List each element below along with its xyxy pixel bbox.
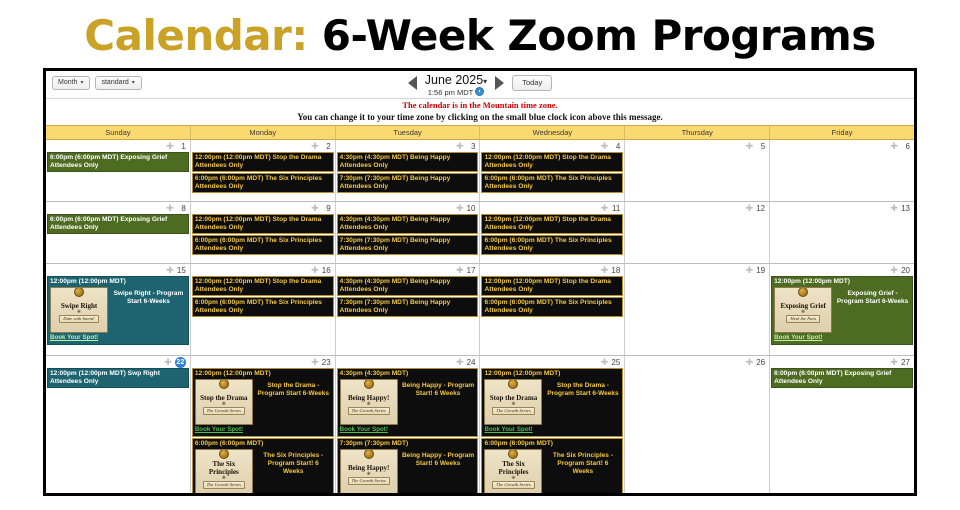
book-your-spot-link[interactable]: Book Your Spot! — [340, 426, 476, 434]
event-time: 12:00pm (12:00pm MDT) — [774, 278, 910, 286]
sprig-icon: ❀ — [367, 402, 371, 406]
event-list: 6:00pm (6:00pm MDT) Exposing Grief Atten… — [46, 152, 190, 174]
add-event-plus-icon[interactable]: ✚ — [601, 143, 609, 151]
calendar-event[interactable]: 12:00pm (12:00pm MDT) Stop the Drama Att… — [192, 214, 334, 234]
add-event-plus-icon[interactable]: ✚ — [311, 143, 319, 151]
day-of-week-tuesday: Tuesday — [336, 126, 481, 139]
event-title: Being Happy - Program Start! 6 Weeks — [401, 379, 476, 398]
add-event-plus-icon[interactable]: ✚ — [890, 205, 898, 213]
event-body: Being Happy!❀The Growth SeriesBeing Happ… — [340, 379, 476, 425]
day-header: ✚27 — [770, 356, 914, 368]
day-of-week-monday: Monday — [191, 126, 336, 139]
wax-seal-icon — [508, 449, 518, 459]
calendar-toolbar: Month▾ standard▾ June 2025▾ 1:56 pm MDT — [46, 71, 914, 99]
day-number[interactable]: 24 — [466, 358, 475, 367]
day-number[interactable]: 19 — [756, 266, 765, 275]
calendar-event-featured[interactable]: 4:30pm (4:30pm MDT)Being Happy!❀The Grow… — [337, 368, 479, 437]
calendar-event[interactable]: 6:00pm (6:00pm MDT) The Six Principles A… — [481, 235, 623, 255]
day-number[interactable]: 4 — [611, 142, 620, 151]
day-number[interactable]: 27 — [901, 358, 910, 367]
sprig-icon: ❀ — [511, 476, 515, 480]
day-header: ✚1 — [46, 140, 190, 152]
day-number[interactable]: 10 — [466, 204, 475, 213]
day-header: ✚9 — [191, 202, 335, 214]
day-number[interactable]: 8 — [177, 204, 186, 213]
calendar-event[interactable]: 6:00pm (6:00pm MDT) Exposing Grief Atten… — [47, 214, 189, 234]
event-list: 6:00pm (6:00pm MDT) Exposing Grief Atten… — [770, 368, 914, 390]
event-title: Stop the Drama - Program Start 6-Weeks — [256, 379, 331, 398]
program-tagline: Heal the Pain — [786, 315, 820, 323]
event-title: The Six Principles - Program Start! 6 We… — [256, 449, 331, 476]
current-time-label: 1:56 pm MDT — [428, 88, 473, 97]
calendar-event-featured[interactable]: 12:00pm (12:00pm MDT)Swipe Right❀Date wi… — [47, 276, 189, 345]
add-event-plus-icon[interactable]: ✚ — [456, 267, 464, 275]
program-scroll-image: Stop the Drama❀The Growth Series — [484, 379, 542, 425]
add-event-plus-icon[interactable]: ✚ — [311, 205, 319, 213]
event-list: 12:00pm (12:00pm MDT) Stop the Drama Att… — [191, 276, 335, 319]
calendar-week-row: ✚1512:00pm (12:00pm MDT)Swipe Right❀Date… — [46, 264, 914, 356]
sprig-icon: ❀ — [222, 476, 226, 480]
event-body: Stop the Drama❀The Growth SeriesStop the… — [195, 379, 331, 425]
calendar-event[interactable]: 6:00pm (6:00pm MDT) Exposing Grief Atten… — [771, 368, 913, 388]
event-list — [770, 152, 914, 153]
event-list: 12:00pm (12:00pm MDT) Stop the Drama Att… — [191, 152, 335, 195]
event-title: Swipe Right - Program Start 6-Weeks — [111, 287, 186, 306]
program-tagline: The Growth Series — [492, 407, 534, 415]
day-cell-2[interactable]: ✚212:00pm (12:00pm MDT) Stop the Drama A… — [191, 140, 336, 201]
add-event-plus-icon[interactable]: ✚ — [166, 205, 174, 213]
day-cell-10[interactable]: ✚104:30pm (4:30pm MDT) Being Happy Atten… — [336, 202, 481, 263]
day-number[interactable]: 17 — [466, 266, 475, 275]
event-list — [770, 214, 914, 215]
program-tagline: The Growth Series — [203, 407, 245, 415]
day-of-week-header: SundayMondayTuesdayWednesdayThursdayFrid… — [46, 125, 914, 140]
program-tagline: The Growth Series — [492, 481, 534, 489]
book-your-spot-link[interactable]: Book Your Spot! — [50, 334, 186, 342]
day-header: ✚3 — [336, 140, 480, 152]
add-event-plus-icon[interactable]: ✚ — [456, 205, 464, 213]
program-tagline: Date with Intent! — [59, 315, 98, 323]
wax-seal-icon — [508, 379, 518, 389]
day-of-week-friday: Friday — [770, 126, 914, 139]
day-header: ✚8 — [46, 202, 190, 214]
day-cell-23[interactable]: ✚2312:00pm (12:00pm MDT)Stop the Drama❀T… — [191, 356, 336, 493]
day-cell-4[interactable]: ✚412:00pm (12:00pm MDT) Stop the Drama A… — [480, 140, 625, 201]
program-scroll-image: Being Happy!❀The Growth Series — [340, 449, 398, 493]
event-time: 6:00pm (6:00pm MDT) — [484, 440, 620, 448]
program-tagline: The Growth Series — [348, 477, 390, 485]
calendar-event-featured[interactable]: 6:00pm (6:00pm MDT)The Six Principles❀Th… — [192, 438, 334, 493]
day-header: ✚4 — [480, 140, 624, 152]
event-title: Stop the Drama - Program Start 6-Weeks — [545, 379, 620, 398]
day-cell-25[interactable]: ✚2512:00pm (12:00pm MDT)Stop the Drama❀T… — [480, 356, 625, 493]
calendar-event-featured[interactable]: 12:00pm (12:00pm MDT)Stop the Drama❀The … — [481, 368, 623, 437]
day-header: ✚15 — [46, 264, 190, 276]
event-time: 12:00pm (12:00pm MDT) — [50, 278, 186, 286]
event-list: 12:00pm (12:00pm MDT)Stop the Drama❀The … — [480, 368, 624, 493]
day-cell-27[interactable]: ✚276:00pm (6:00pm MDT) Exposing Grief At… — [770, 356, 914, 493]
day-of-week-thursday: Thursday — [625, 126, 770, 139]
add-event-plus-icon[interactable]: ✚ — [601, 205, 609, 213]
chevron-down-icon: ▾ — [483, 77, 487, 86]
day-header: ✚5 — [625, 140, 769, 152]
calendar-event[interactable]: 12:00pm (12:00pm MDT) Stop the Drama Att… — [192, 276, 334, 296]
day-cell-24[interactable]: ✚244:30pm (4:30pm MDT)Being Happy!❀The G… — [336, 356, 481, 493]
event-time: 7:30pm (7:30pm MDT) — [340, 440, 476, 448]
add-event-plus-icon[interactable]: ✚ — [166, 143, 174, 151]
day-number[interactable]: 6 — [901, 142, 910, 151]
add-event-plus-icon[interactable]: ✚ — [164, 359, 172, 367]
day-header: ✚20 — [770, 264, 914, 276]
sprig-icon: ❀ — [801, 310, 805, 314]
day-number[interactable]: 3 — [466, 142, 475, 151]
calendar-event-featured[interactable]: 12:00pm (12:00pm MDT)Exposing Grief❀Heal… — [771, 276, 913, 345]
day-cell-9[interactable]: ✚912:00pm (12:00pm MDT) Stop the Drama A… — [191, 202, 336, 263]
sprig-icon: ❀ — [222, 402, 226, 406]
day-cell-11[interactable]: ✚1112:00pm (12:00pm MDT) Stop the Drama … — [480, 202, 625, 263]
add-event-plus-icon[interactable]: ✚ — [746, 267, 754, 275]
day-cell-5[interactable]: ✚5 — [625, 140, 770, 201]
event-list: 4:30pm (4:30pm MDT) Being Happy Attendee… — [336, 152, 480, 195]
event-list: 12:00pm (12:00pm MDT)Stop the Drama❀The … — [191, 368, 335, 493]
add-event-plus-icon[interactable]: ✚ — [890, 143, 898, 151]
event-body: The Six Principles❀The Growth SeriesThe … — [484, 449, 620, 493]
day-header: ✚24 — [336, 356, 480, 368]
day-cell-19[interactable]: ✚19 — [625, 264, 770, 355]
calendar-week-row: ✚2212:00pm (12:00pm MDT) Swp Right Atten… — [46, 356, 914, 493]
day-cell-16[interactable]: ✚1612:00pm (12:00pm MDT) Stop the Drama … — [191, 264, 336, 355]
event-list: 12:00pm (12:00pm MDT) Swp Right Attendee… — [46, 368, 190, 390]
event-body: Exposing Grief❀Heal the PainExposing Gri… — [774, 287, 910, 333]
add-event-plus-icon[interactable]: ✚ — [311, 267, 319, 275]
program-scroll-image: Exposing Grief❀Heal the Pain — [774, 287, 832, 333]
day-number[interactable]: 5 — [756, 142, 765, 151]
day-number[interactable]: 9 — [322, 204, 331, 213]
day-header: ✚11 — [480, 202, 624, 214]
calendar-event[interactable]: 7:30pm (7:30pm MDT) Being Happy Attendee… — [337, 297, 479, 317]
day-header: ✚19 — [625, 264, 769, 276]
day-header: ✚17 — [336, 264, 480, 276]
day-number[interactable]: 13 — [901, 204, 910, 213]
event-list: 4:30pm (4:30pm MDT)Being Happy!❀The Grow… — [336, 368, 480, 493]
add-event-plus-icon[interactable]: ✚ — [601, 267, 609, 275]
program-scroll-image: The Six Principles❀The Growth Series — [195, 449, 253, 493]
event-title: Exposing Grief - Program Start 6-Weeks — [835, 287, 910, 306]
day-cell-3[interactable]: ✚34:30pm (4:30pm MDT) Being Happy Attend… — [336, 140, 481, 201]
add-event-plus-icon[interactable]: ✚ — [601, 359, 609, 367]
calendar-event[interactable]: 6:00pm (6:00pm MDT) Exposing Grief Atten… — [47, 152, 189, 172]
day-number[interactable]: 11 — [611, 204, 620, 213]
add-event-plus-icon[interactable]: ✚ — [746, 205, 754, 213]
event-list: 4:30pm (4:30pm MDT) Being Happy Attendee… — [336, 214, 480, 257]
book-your-spot-link[interactable]: Book Your Spot! — [195, 426, 331, 434]
day-number[interactable]: 20 — [901, 266, 910, 275]
program-name: The Six Principles — [196, 460, 252, 476]
day-cell-26[interactable]: ✚26 — [625, 356, 770, 493]
add-event-plus-icon[interactable]: ✚ — [746, 143, 754, 151]
page-title: Calendar: 6-Week Zoom Programs — [0, 0, 960, 70]
add-event-plus-icon[interactable]: ✚ — [456, 359, 464, 367]
program-name: The Six Principles — [485, 460, 541, 476]
event-body: Being Happy!❀The Growth SeriesBeing Happ… — [340, 449, 476, 493]
sprig-icon: ❀ — [511, 402, 515, 406]
wax-seal-icon — [798, 287, 808, 297]
day-number[interactable]: 16 — [322, 266, 331, 275]
day-cell-20[interactable]: ✚2012:00pm (12:00pm MDT)Exposing Grief❀H… — [770, 264, 914, 355]
next-month-arrow-icon[interactable] — [495, 76, 504, 90]
event-list: 6:00pm (6:00pm MDT) Exposing Grief Atten… — [46, 214, 190, 236]
event-list — [625, 276, 769, 277]
day-header: ✚16 — [191, 264, 335, 276]
event-list: 4:30pm (4:30pm MDT) Being Happy Attendee… — [336, 276, 480, 319]
day-of-week-wednesday: Wednesday — [480, 126, 625, 139]
program-tagline: The Growth Series — [348, 407, 390, 415]
calendar-event[interactable]: 6:00pm (6:00pm MDT) The Six Principles A… — [192, 297, 334, 317]
add-event-plus-icon[interactable]: ✚ — [311, 359, 319, 367]
day-number[interactable]: 1 — [177, 142, 186, 151]
event-time: 6:00pm (6:00pm MDT) — [195, 440, 331, 448]
event-title: The Six Principles - Program Start! 6 We… — [545, 449, 620, 476]
screenshot-root: Calendar: 6-Week Zoom Programs Month▾ st… — [0, 0, 960, 510]
event-time: 4:30pm (4:30pm MDT) — [340, 370, 476, 378]
month-selector[interactable]: June 2025▾ — [425, 73, 487, 87]
timezone-notice-line2: You can change it to your time zone by c… — [46, 111, 914, 123]
day-of-week-sunday: Sunday — [46, 126, 191, 139]
day-number[interactable]: 18 — [611, 266, 620, 275]
day-header: ✚26 — [625, 356, 769, 368]
sprig-icon: ❀ — [77, 310, 81, 314]
day-header: ✚18 — [480, 264, 624, 276]
book-your-spot-link[interactable]: Book Your Spot! — [774, 334, 910, 342]
wax-seal-icon — [219, 449, 229, 459]
calendar-event[interactable]: 6:00pm (6:00pm MDT) The Six Principles A… — [481, 173, 623, 193]
event-list — [625, 152, 769, 153]
event-list: 12:00pm (12:00pm MDT) Stop the Drama Att… — [480, 152, 624, 195]
event-title: Being Happy - Program Start! 6 Weeks — [401, 449, 476, 468]
day-cell-18[interactable]: ✚1812:00pm (12:00pm MDT) Stop the Drama … — [480, 264, 625, 355]
event-time: 12:00pm (12:00pm MDT) — [484, 370, 620, 378]
calendar-event[interactable]: 7:30pm (7:30pm MDT) Being Happy Attendee… — [337, 235, 479, 255]
wax-seal-icon — [364, 379, 374, 389]
clock-icon[interactable] — [475, 87, 484, 96]
event-body: The Six Principles❀The Growth SeriesThe … — [195, 449, 331, 493]
day-number[interactable]: 15 — [177, 266, 186, 275]
calendar-event-featured[interactable]: 7:30pm (7:30pm MDT)Being Happy!❀The Grow… — [337, 438, 479, 493]
calendar-week-row: ✚86:00pm (6:00pm MDT) Exposing Grief Att… — [46, 202, 914, 264]
wax-seal-icon — [219, 379, 229, 389]
calendar-event[interactable]: 12:00pm (12:00pm MDT) Stop the Drama Att… — [481, 152, 623, 172]
timezone-notice: The calendar is in the Mountain time zon… — [46, 99, 914, 125]
day-header: ✚13 — [770, 202, 914, 214]
calendar-event-featured[interactable]: 6:00pm (6:00pm MDT)The Six Principles❀Th… — [481, 438, 623, 493]
day-cell-22[interactable]: ✚2212:00pm (12:00pm MDT) Swp Right Atten… — [46, 356, 191, 493]
calendar-event[interactable]: 4:30pm (4:30pm MDT) Being Happy Attendee… — [337, 152, 479, 172]
day-cell-6[interactable]: ✚6 — [770, 140, 914, 201]
program-scroll-image: Swipe Right❀Date with Intent! — [50, 287, 108, 333]
day-number[interactable]: 26 — [756, 358, 765, 367]
day-cell-12[interactable]: ✚12 — [625, 202, 770, 263]
day-cell-15[interactable]: ✚1512:00pm (12:00pm MDT)Swipe Right❀Date… — [46, 264, 191, 355]
add-event-plus-icon[interactable]: ✚ — [166, 267, 174, 275]
day-number[interactable]: 25 — [611, 358, 620, 367]
month-label: June 2025 — [425, 73, 483, 87]
calendar-event[interactable]: 4:30pm (4:30pm MDT) Being Happy Attendee… — [337, 276, 479, 296]
calendar-widget: Month▾ standard▾ June 2025▾ 1:56 pm MDT — [43, 68, 917, 496]
calendar-event[interactable]: 6:00pm (6:00pm MDT) The Six Principles A… — [192, 235, 334, 255]
event-list: 12:00pm (12:00pm MDT)Swipe Right❀Date wi… — [46, 276, 190, 347]
current-time: 1:56 pm MDT — [425, 87, 487, 98]
calendar-event[interactable]: 12:00pm (12:00pm MDT) Stop the Drama Att… — [481, 276, 623, 296]
wax-seal-icon — [364, 449, 374, 459]
day-header: ✚23 — [191, 356, 335, 368]
event-list — [625, 214, 769, 215]
day-cell-13[interactable]: ✚13 — [770, 202, 914, 263]
add-event-plus-icon[interactable]: ✚ — [456, 143, 464, 151]
day-cell-1[interactable]: ✚16:00pm (6:00pm MDT) Exposing Grief Att… — [46, 140, 191, 201]
sprig-icon: ❀ — [367, 472, 371, 476]
program-scroll-image: The Six Principles❀The Growth Series — [484, 449, 542, 493]
day-header: ✚2 — [191, 140, 335, 152]
calendar-week-row: ✚16:00pm (6:00pm MDT) Exposing Grief Att… — [46, 140, 914, 202]
add-event-plus-icon[interactable]: ✚ — [890, 267, 898, 275]
today-button[interactable]: Today — [512, 75, 552, 91]
calendar-event[interactable]: 12:00pm (12:00pm MDT) Stop the Drama Att… — [481, 214, 623, 234]
timezone-notice-line1: The calendar is in the Mountain time zon… — [46, 100, 914, 111]
event-body: Stop the Drama❀The Growth SeriesStop the… — [484, 379, 620, 425]
event-body: Swipe Right❀Date with Intent!Swipe Right… — [50, 287, 186, 333]
day-header: ✚25 — [480, 356, 624, 368]
day-cell-8[interactable]: ✚86:00pm (6:00pm MDT) Exposing Grief Att… — [46, 202, 191, 263]
calendar-grid: ✚16:00pm (6:00pm MDT) Exposing Grief Att… — [46, 140, 914, 493]
calendar-event-featured[interactable]: 12:00pm (12:00pm MDT)Stop the Drama❀The … — [192, 368, 334, 437]
calendar-event[interactable]: 12:00pm (12:00pm MDT) Stop the Drama Att… — [192, 152, 334, 172]
day-header: ✚12 — [625, 202, 769, 214]
program-scroll-image: Stop the Drama❀The Growth Series — [195, 379, 253, 425]
book-your-spot-link[interactable]: Book Your Spot! — [484, 426, 620, 434]
page-title-accent: Calendar: — [84, 11, 307, 60]
previous-month-arrow-icon[interactable] — [408, 76, 417, 90]
day-number[interactable]: 12 — [756, 204, 765, 213]
page-title-main: 6-Week Zoom Programs — [322, 11, 876, 60]
add-event-plus-icon[interactable]: ✚ — [746, 359, 754, 367]
event-list: 12:00pm (12:00pm MDT)Exposing Grief❀Heal… — [770, 276, 914, 347]
event-time: 12:00pm (12:00pm MDT) — [195, 370, 331, 378]
calendar-event[interactable]: 4:30pm (4:30pm MDT) Being Happy Attendee… — [337, 214, 479, 234]
calendar-event[interactable]: 6:00pm (6:00pm MDT) The Six Principles A… — [481, 297, 623, 317]
day-header: ✚22 — [46, 356, 190, 368]
day-number[interactable]: 2 — [322, 142, 331, 151]
program-scroll-image: Being Happy!❀The Growth Series — [340, 379, 398, 425]
day-header: ✚6 — [770, 140, 914, 152]
wax-seal-icon — [74, 287, 84, 297]
add-event-plus-icon[interactable]: ✚ — [890, 359, 898, 367]
calendar-event[interactable]: 7:30pm (7:30pm MDT) Being Happy Attendee… — [337, 173, 479, 193]
day-number[interactable]: 23 — [322, 358, 331, 367]
event-list: 12:00pm (12:00pm MDT) Stop the Drama Att… — [480, 214, 624, 257]
event-list — [625, 368, 769, 369]
day-number-today[interactable]: 22 — [175, 357, 186, 368]
calendar-event[interactable]: 12:00pm (12:00pm MDT) Swp Right Attendee… — [47, 368, 189, 388]
event-list: 12:00pm (12:00pm MDT) Stop the Drama Att… — [480, 276, 624, 319]
day-cell-17[interactable]: ✚174:30pm (4:30pm MDT) Being Happy Atten… — [336, 264, 481, 355]
calendar-event[interactable]: 6:00pm (6:00pm MDT) The Six Principles A… — [192, 173, 334, 193]
day-header: ✚10 — [336, 202, 480, 214]
event-list: 12:00pm (12:00pm MDT) Stop the Drama Att… — [191, 214, 335, 257]
program-tagline: The Growth Series — [203, 481, 245, 489]
